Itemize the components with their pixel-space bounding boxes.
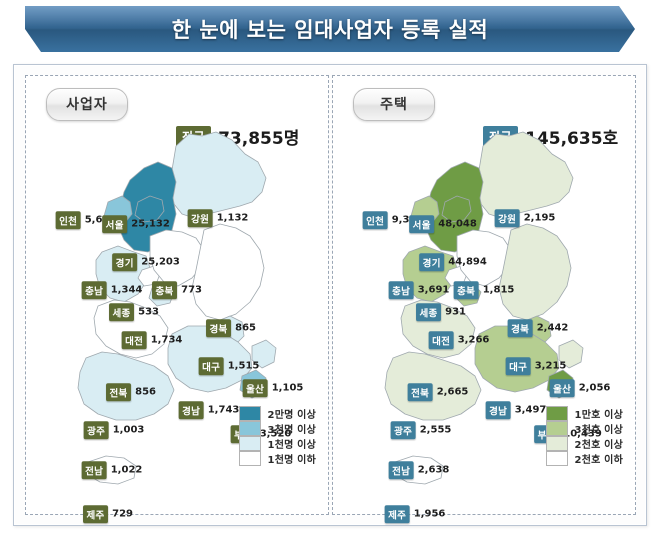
region-value: 1,515 <box>228 361 260 372</box>
map-label-세종: 세종931 <box>416 303 466 321</box>
map-label-세종: 세종533 <box>109 303 159 321</box>
legend-label: 2천호 이상 <box>575 436 623 451</box>
map-label-경기: 경기25,203 <box>112 253 180 271</box>
region-name: 세종 <box>416 303 441 321</box>
region-name: 울산 <box>243 379 268 397</box>
region-name: 전북 <box>408 383 433 401</box>
region-value: 2,555 <box>420 425 452 436</box>
region-name: 대구 <box>506 357 531 375</box>
region-name: 울산 <box>550 379 575 397</box>
region-value: 3,266 <box>458 335 490 346</box>
map-label-경남: 경남3,497 <box>486 401 547 419</box>
region-value: 1,956 <box>414 509 446 520</box>
region-name: 인천 <box>363 211 388 229</box>
legend-label: 2만명 이상 <box>268 406 316 421</box>
map-legend: 2만명 이상3천명 이상1천명 이상1천명 이하 <box>239 406 316 466</box>
region-name: 경남 <box>486 401 511 419</box>
region-value: 931 <box>445 307 466 318</box>
region-name: 제주 <box>385 505 410 523</box>
region-name: 강원 <box>188 209 213 227</box>
map-label-강원: 강원1,132 <box>188 209 249 227</box>
region-value: 25,132 <box>131 219 170 230</box>
region-value: 1,815 <box>483 285 515 296</box>
legend-item: 2천호 이하 <box>546 451 623 466</box>
region-value: 2,665 <box>437 387 469 398</box>
page-title: 한 눈에 보는 임대사업자 등록 실적 <box>172 14 489 44</box>
region-value: 1,734 <box>151 335 183 346</box>
legend-label: 1천명 이하 <box>268 451 316 466</box>
legend-swatch <box>546 451 568 466</box>
region-name: 경남 <box>179 401 204 419</box>
region-value: 2,442 <box>537 323 569 334</box>
map-label-충남: 충남3,691 <box>389 281 450 299</box>
region-name: 서울 <box>102 215 127 233</box>
region-경북[interactable] <box>499 224 571 320</box>
map-label-전북: 전북856 <box>106 383 156 401</box>
legend-label: 3천명 이상 <box>268 421 316 436</box>
title-banner: 한 눈에 보는 임대사업자 등록 실적 <box>0 6 660 52</box>
region-value: 773 <box>181 285 202 296</box>
map-label-경북: 경북2,442 <box>508 319 569 337</box>
region-name: 대구 <box>199 357 224 375</box>
map-label-강원: 강원2,195 <box>495 209 556 227</box>
region-name: 전남 <box>82 461 107 479</box>
region-value: 3,215 <box>535 361 567 372</box>
map-label-대구: 대구3,215 <box>506 357 567 375</box>
region-value: 533 <box>138 307 159 318</box>
legend-item: 1만호 이상 <box>546 406 623 421</box>
region-value: 729 <box>112 509 133 520</box>
region-name: 경북 <box>206 319 231 337</box>
region-name: 경북 <box>508 319 533 337</box>
map-label-제주: 제주729 <box>83 505 133 523</box>
region-name: 대전 <box>122 331 147 349</box>
region-value: 25,203 <box>141 257 180 268</box>
region-name: 광주 <box>391 421 416 439</box>
region-name: 경기 <box>112 253 137 271</box>
region-value: 1,344 <box>111 285 143 296</box>
legend-label: 3천호 이상 <box>575 421 623 436</box>
region-value: 1,022 <box>111 465 143 476</box>
map-label-충북: 충북1,815 <box>454 281 515 299</box>
map-label-울산: 울산1,105 <box>243 379 304 397</box>
map-label-광주: 광주1,003 <box>84 421 145 439</box>
legend-item: 1천명 이상 <box>239 436 316 451</box>
region-value: 2,638 <box>418 465 450 476</box>
panel-business-operators: 사업자전국73,855명인천5,646서울25,132경기25,203강원1,1… <box>25 75 329 515</box>
region-value: 44,894 <box>448 257 487 268</box>
region-value: 2,195 <box>524 213 556 224</box>
region-name: 전남 <box>389 461 414 479</box>
map-label-대전: 대전1,734 <box>122 331 183 349</box>
legend-swatch <box>546 421 568 436</box>
region-강원[interactable] <box>170 132 266 218</box>
map-label-경북: 경북865 <box>206 319 256 337</box>
region-name: 세종 <box>109 303 134 321</box>
map-label-전북: 전북2,665 <box>408 383 469 401</box>
legend-swatch <box>239 406 261 421</box>
region-name: 충북 <box>152 281 177 299</box>
content-card: 사업자전국73,855명인천5,646서울25,132경기25,203강원1,1… <box>13 64 647 526</box>
map-label-대구: 대구1,515 <box>199 357 260 375</box>
region-경북[interactable] <box>192 224 264 320</box>
region-value: 1,132 <box>217 213 249 224</box>
legend-item: 2만명 이상 <box>239 406 316 421</box>
region-value: 1,105 <box>272 383 304 394</box>
legend-swatch <box>239 436 261 451</box>
region-name: 전북 <box>106 383 131 401</box>
region-name: 인천 <box>56 211 81 229</box>
map-label-전남: 전남1,022 <box>82 461 143 479</box>
region-value: 3,691 <box>418 285 450 296</box>
banner-shape: 한 눈에 보는 임대사업자 등록 실적 <box>25 6 635 52</box>
map-label-대전: 대전3,266 <box>429 331 490 349</box>
region-name: 대전 <box>429 331 454 349</box>
region-value: 2,056 <box>579 383 611 394</box>
region-강원[interactable] <box>477 132 573 218</box>
legend-swatch <box>239 421 261 436</box>
region-value: 1,003 <box>113 425 145 436</box>
region-value: 3,497 <box>515 405 547 416</box>
infographic-root: 한 눈에 보는 임대사업자 등록 실적 사업자전국73,855명인천5,646서… <box>0 0 660 536</box>
region-value: 1,743 <box>208 405 240 416</box>
legend-swatch <box>546 436 568 451</box>
region-name: 경기 <box>419 253 444 271</box>
region-value: 865 <box>235 323 256 334</box>
map-legend: 1만호 이상3천호 이상2천호 이상2천호 이하 <box>546 406 623 466</box>
region-value: 856 <box>135 387 156 398</box>
region-name: 충북 <box>454 281 479 299</box>
region-value: 48,048 <box>438 219 477 230</box>
map-label-충남: 충남1,344 <box>82 281 143 299</box>
legend-label: 1만호 이상 <box>575 406 623 421</box>
legend-swatch <box>239 451 261 466</box>
map-label-전남: 전남2,638 <box>389 461 450 479</box>
legend-item: 3천명 이상 <box>239 421 316 436</box>
legend-item: 1천명 이하 <box>239 451 316 466</box>
region-name: 광주 <box>84 421 109 439</box>
map-label-광주: 광주2,555 <box>391 421 452 439</box>
region-name: 충남 <box>82 281 107 299</box>
map-label-제주: 제주1,956 <box>385 505 446 523</box>
region-name: 서울 <box>409 215 434 233</box>
legend-item: 2천호 이상 <box>546 436 623 451</box>
legend-swatch <box>546 406 568 421</box>
region-name: 충남 <box>389 281 414 299</box>
map-label-충북: 충북773 <box>152 281 202 299</box>
map-label-경남: 경남1,743 <box>179 401 240 419</box>
legend-label: 2천호 이하 <box>575 451 623 466</box>
legend-item: 3천호 이상 <box>546 421 623 436</box>
map-label-서울: 서울48,048 <box>409 215 477 233</box>
map-label-경기: 경기44,894 <box>419 253 487 271</box>
region-name: 강원 <box>495 209 520 227</box>
map-label-서울: 서울25,132 <box>102 215 170 233</box>
legend-label: 1천명 이상 <box>268 436 316 451</box>
map-label-울산: 울산2,056 <box>550 379 611 397</box>
panel-houses: 주택전국145,635호인천9,332서울48,048경기44,894강원2,1… <box>332 75 636 515</box>
region-name: 제주 <box>83 505 108 523</box>
